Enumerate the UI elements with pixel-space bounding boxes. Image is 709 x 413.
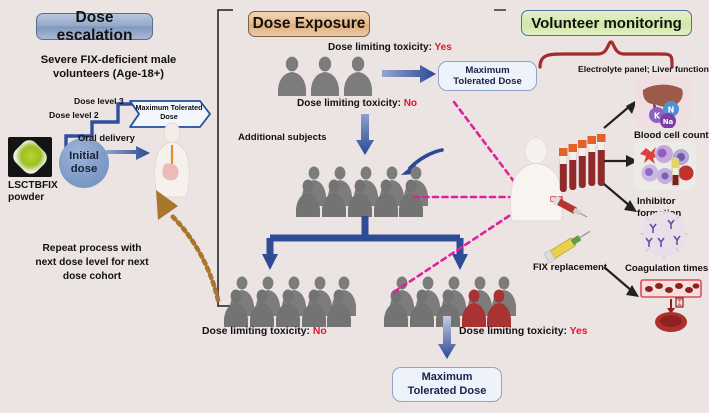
human-body-oral-icon (148, 122, 196, 198)
panel-title-dose-escalation: Dose escalation (36, 13, 153, 40)
arrow-down-to-mtd-bottom (437, 316, 457, 360)
initial-dose-label: Initial dose (69, 150, 99, 176)
liver-electrolytes-icon: K N Na (635, 76, 691, 128)
dlt-no-bottom-label: Dose limiting toxicity: No (202, 325, 327, 338)
lsctbfix-powder-label: LSCTBFIX powder (8, 180, 64, 204)
svg-text:K: K (654, 112, 661, 121)
mtd-chevron-label: Maximum Tolerated Dose (132, 103, 206, 121)
dose-escalation-subtitle: Severe FIX-deficient male volunteers (Ag… (16, 53, 201, 81)
coagulation-icon (640, 276, 702, 336)
figure-canvas: Dose escalation Severe FIX-deficient mal… (0, 0, 709, 413)
blood-cells-icon (634, 142, 696, 190)
dose-level-3-label: Dose level 3 (74, 96, 124, 107)
dlt-yes-top-value: Yes (435, 42, 452, 53)
dlt-yes-bottom-prefix: Dose limiting toxicity: (459, 326, 567, 337)
dlt-yes-top-prefix: Dose limiting toxicity: (328, 42, 432, 53)
dose-level-2-label: Dose level 2 (49, 110, 99, 121)
oral-delivery-arrow (106, 144, 152, 162)
initial-dose-circle: Initial dose (59, 138, 109, 188)
arrow-to-mtd-top (382, 64, 438, 84)
repeat-process-label: Repeat process with next dose level for … (22, 242, 162, 283)
mtd-box-top: Maximum Tolerated Dose (438, 61, 537, 91)
fix-replacement-syringe-icon (543, 228, 595, 262)
monitoring-item-0-label: Electrolyte panel; Liver function (578, 64, 709, 75)
panel-title-dose-exposure: Dose Exposure (248, 11, 370, 37)
blood-draw-syringe-icon (552, 196, 590, 222)
mtd-box-bottom: Maximum Tolerated Dose (392, 367, 502, 402)
blood-collection-tubes-icon (559, 134, 609, 202)
dlt-no-bottom-value: No (313, 326, 327, 337)
dlt-yes-top-label: Dose limiting toxicity: Yes (328, 42, 452, 55)
oral-delivery-label: Oral delivery (78, 132, 135, 144)
svg-text:Na: Na (663, 118, 674, 126)
monitoring-item-3-label: Coagulation times (625, 263, 708, 275)
dlt-no-bottom-prefix: Dose limiting toxicity: (202, 326, 310, 337)
dlt-yes-bottom-label: Dose limiting toxicity: Yes (459, 325, 588, 338)
cohort-top-3-people (277, 55, 375, 97)
lsctbfix-powder-icon (8, 137, 52, 177)
dlt-yes-bottom-value: Yes (570, 326, 588, 337)
svg-text:N: N (668, 106, 675, 115)
antibodies-icon (634, 208, 694, 260)
fix-replacement-label: FIX replacement (533, 262, 607, 274)
panel-title-volunteer-monitoring: Volunteer monitoring (521, 10, 692, 36)
monitoring-item-1-label: Blood cell count (634, 130, 709, 142)
